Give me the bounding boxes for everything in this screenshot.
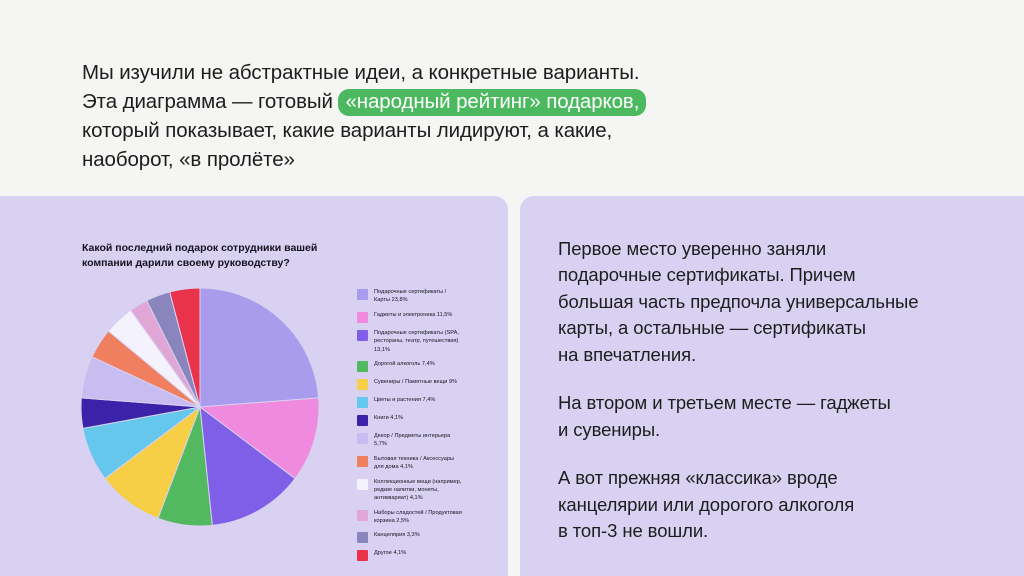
legend-item: Дорогой алкоголь 7,4%	[357, 360, 507, 372]
legend-label: Коллекционные вещи (например,редкие напи…	[374, 478, 461, 503]
legend-label: Книги 4,1%	[374, 414, 403, 422]
legend-item: Сувениры / Памятные вещи 9%	[357, 378, 507, 390]
chart-legend: Подарочные сертификаты /Карты 23,8%Гадже…	[357, 288, 507, 567]
legend-label: Подарочные сертификаты /Карты 23,8%	[374, 288, 446, 305]
legend-label: Цветы и растения 7,4%	[374, 396, 435, 404]
intro-line-2: Эта диаграмма — готовый «народный рейтин…	[82, 87, 722, 116]
legend-swatch	[357, 532, 368, 543]
legend-swatch	[357, 312, 368, 323]
legend-item: Другое 4,1%	[357, 549, 507, 561]
legend-item: Цветы и растения 7,4%	[357, 396, 507, 408]
chart-title-line-1: Какой последний подарок сотрудники вашей	[82, 241, 412, 256]
intro-line-2-prefix: Эта диаграмма — готовый	[82, 90, 338, 113]
legend-swatch	[357, 397, 368, 408]
chart-title-line-2: компании дарили своему руководству?	[82, 256, 412, 271]
legend-swatch	[357, 456, 368, 467]
legend-swatch	[357, 433, 368, 444]
commentary-line: На втором и третьем месте — гаджеты	[558, 390, 998, 416]
legend-swatch	[357, 289, 368, 300]
legend-item: Наборы сладостей / Продуктоваякорзина 2,…	[357, 509, 507, 526]
legend-label: Наборы сладостей / Продуктоваякорзина 2,…	[374, 509, 462, 526]
legend-swatch	[357, 479, 368, 490]
commentary-paragraph: На втором и третьем месте — гаджетыи сув…	[558, 390, 998, 443]
legend-label: Сувениры / Памятные вещи 9%	[374, 378, 457, 386]
intro-paragraph: Мы изучили не абстрактные идеи, а конкре…	[82, 58, 722, 174]
legend-swatch	[357, 510, 368, 521]
commentary-line: и сувениры.	[558, 417, 998, 443]
commentary-text: Первое место уверенно занялиподарочные с…	[558, 236, 998, 545]
intro-line-3: который показывает, какие варианты лидир…	[82, 116, 722, 145]
commentary-line: канцелярии или дорогого алкоголя	[558, 492, 998, 518]
intro-line-4: наоборот, «в пролёте»	[82, 145, 722, 174]
commentary-paragraph: А вот прежняя «классика» вродеканцелярии…	[558, 465, 998, 544]
commentary-line: карты, а остальные — сертификаты	[558, 315, 998, 341]
intro-highlight: «народный рейтинг» подарков,	[338, 89, 646, 116]
legend-swatch	[357, 550, 368, 561]
legend-label: Другое 4,1%	[374, 549, 406, 557]
legend-item: Декор / Предметы интерьера5,7%	[357, 432, 507, 449]
legend-label: Бытовая техника / Аксессуарыдля дома 4,1…	[374, 455, 454, 472]
legend-item: Коллекционные вещи (например,редкие напи…	[357, 478, 507, 503]
commentary-line: на впечатления.	[558, 342, 998, 368]
legend-label: Гаджеты и электроника 11,5%	[374, 311, 452, 319]
legend-swatch	[357, 415, 368, 426]
pie-slice	[200, 288, 319, 407]
intro-section: Мы изучили не абстрактные идеи, а конкре…	[0, 0, 1024, 195]
chart-title: Какой последний подарок сотрудники вашей…	[82, 241, 412, 271]
legend-item: Книги 4,1%	[357, 414, 507, 426]
commentary-line: Первое место уверенно заняли	[558, 236, 998, 262]
legend-item: Подарочные сертификаты (SPA,рестораны, т…	[357, 329, 507, 354]
pie-chart	[80, 287, 320, 527]
legend-swatch	[357, 330, 368, 341]
commentary-line: большая часть предпочла универсальные	[558, 289, 998, 315]
legend-item: Подарочные сертификаты /Карты 23,8%	[357, 288, 507, 305]
commentary-line: подарочные сертификаты. Причем	[558, 262, 998, 288]
legend-swatch	[357, 379, 368, 390]
legend-label: Дорогой алкоголь 7,4%	[374, 360, 435, 368]
legend-label: Канцелярия 3,3%	[374, 531, 420, 539]
commentary-line: в топ-3 не вошли.	[558, 518, 998, 544]
intro-line-1: Мы изучили не абстрактные идеи, а конкре…	[82, 58, 722, 87]
legend-item: Гаджеты и электроника 11,5%	[357, 311, 507, 323]
pie-chart-svg	[80, 287, 320, 527]
commentary-line: А вот прежняя «классика» вроде	[558, 465, 998, 491]
legend-item: Канцелярия 3,3%	[357, 531, 507, 543]
commentary-paragraph: Первое место уверенно занялиподарочные с…	[558, 236, 998, 368]
legend-label: Декор / Предметы интерьера5,7%	[374, 432, 450, 449]
legend-label: Подарочные сертификаты (SPA,рестораны, т…	[374, 329, 459, 354]
legend-swatch	[357, 361, 368, 372]
legend-item: Бытовая техника / Аксессуарыдля дома 4,1…	[357, 455, 507, 472]
